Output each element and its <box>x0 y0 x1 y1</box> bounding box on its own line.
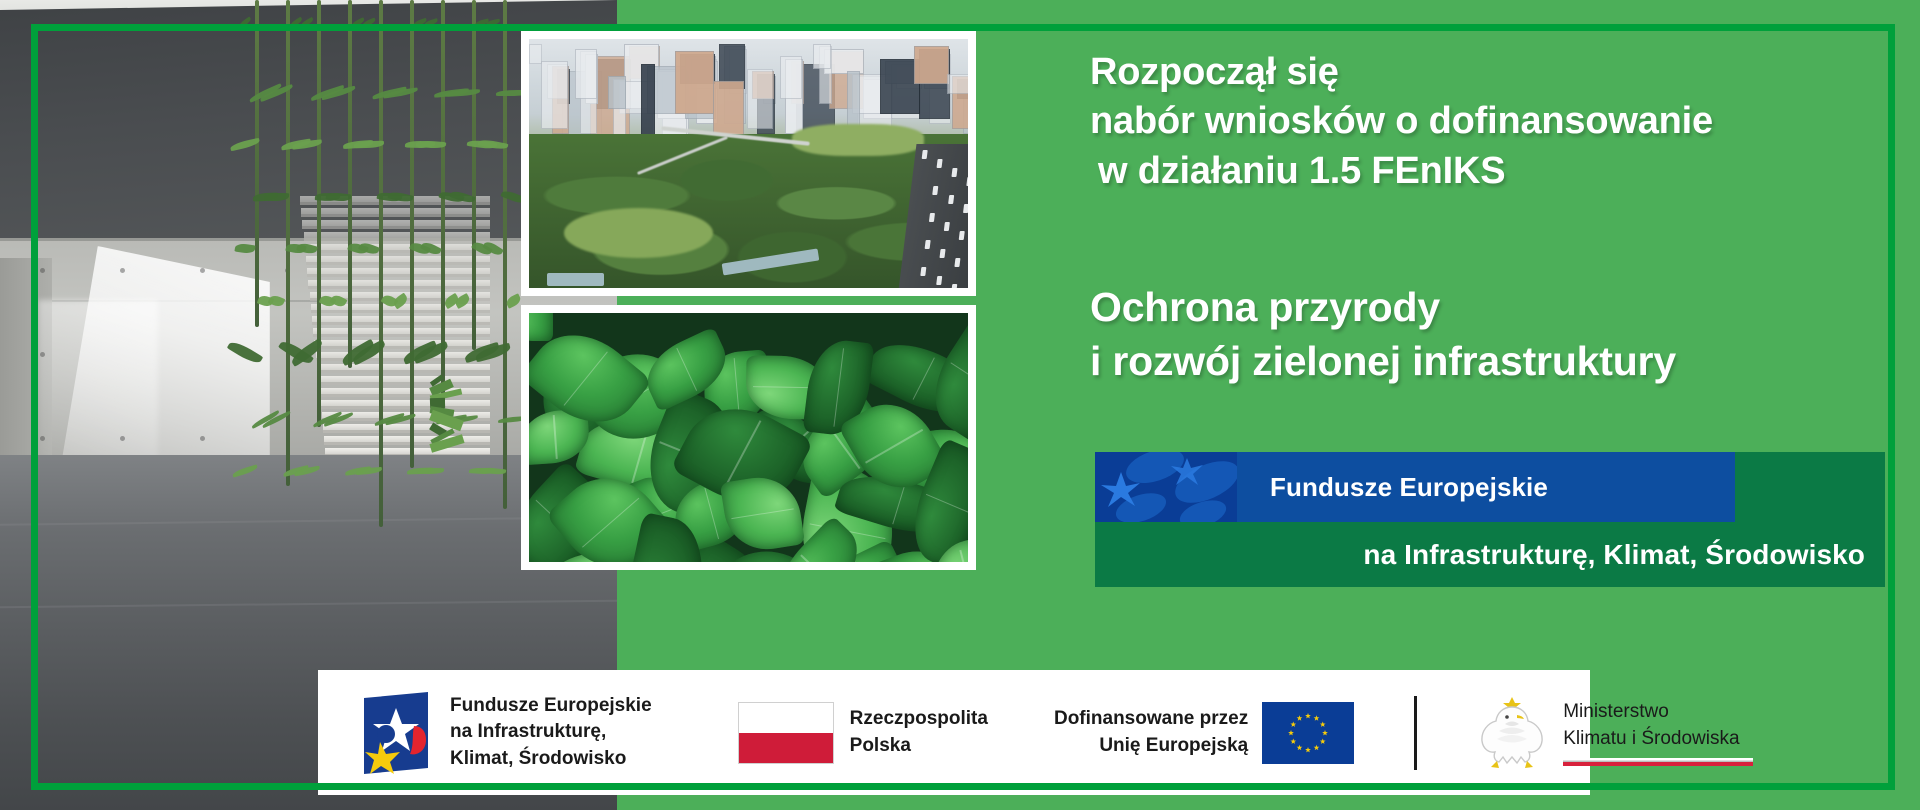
funding-logo-strip: Fundusze Europejskie na Infrastrukturę, … <box>318 670 1590 795</box>
logo-fundusze-europejskie: Fundusze Europejskie na Infrastrukturę, … <box>318 670 652 795</box>
green-leaves-photo <box>521 305 976 570</box>
city-pavilion-roof-2 <box>547 273 604 285</box>
logo-ministerstwo-klimatu: Ministerstwo Klimatu i Środowiska <box>1473 670 1753 795</box>
feniks-program-banner: Fundusze Europejskie na Infrastrukturę, … <box>1095 452 1885 587</box>
city-lawn-upper <box>792 124 924 156</box>
poster-canvas: Rozpoczął się nabór wniosków o dofinanso… <box>0 0 1920 810</box>
poland-logo-text: Rzeczpospolita Polska <box>850 706 988 758</box>
poland-flag-red <box>739 733 833 763</box>
poland-logo-line-1: Rzeczpospolita <box>850 706 988 732</box>
poland-flag-icon <box>738 702 834 764</box>
ministry-logo-line-2: Klimatu i Środowiska <box>1563 726 1753 753</box>
logo-divider <box>1414 696 1417 770</box>
subheadline: Ochrona przyrody i rozwój zielonej infra… <box>1090 280 1920 388</box>
headline-line-3: w działaniu 1.5 FEnIKS <box>1090 147 1920 196</box>
fe-logo-text: Fundusze Europejskie na Infrastrukturę, … <box>450 693 652 772</box>
feniks-bottom-label: na Infrastrukturę, Klimat, Środowisko <box>1095 522 1885 587</box>
ministry-logo-line-1: Ministerstwo <box>1563 699 1753 726</box>
logo-rzeczpospolita-polska: Rzeczpospolita Polska <box>652 670 988 795</box>
logo-european-union: Dofinansowane przez Unię Europejską <box>988 670 1354 795</box>
eu-logo-text: Dofinansowane przez Unię Europejską <box>1054 706 1248 758</box>
ministry-logo-text: Ministerstwo Klimatu i Środowiska <box>1563 699 1753 766</box>
fe-logo-line-2: na Infrastrukturę, <box>450 719 652 745</box>
eu-flag-icon <box>1262 702 1354 764</box>
fe-logo-line-3: Klimat, Środowisko <box>450 746 652 772</box>
subheadline-line-1: Ochrona przyrody <box>1090 280 1920 334</box>
polish-eagle-icon <box>1473 691 1551 775</box>
fe-flag-star-icon <box>356 690 436 776</box>
fe-logo-line-1: Fundusze Europejskie <box>450 693 652 719</box>
eu-logo-line-2: Unię Europejską <box>1054 733 1248 759</box>
feniks-top-label: Fundusze Europejskie <box>1270 452 1548 522</box>
headline-line-1: Rozpoczął się <box>1090 48 1920 97</box>
poland-flag-white <box>739 703 833 733</box>
ministry-flag-rule <box>1563 758 1753 766</box>
headline: Rozpoczął się nabór wniosków o dofinanso… <box>1090 48 1920 196</box>
headline-line-2: nabór wniosków o dofinansowanie <box>1090 97 1920 146</box>
feniks-banner-top: Fundusze Europejskie <box>1095 452 1735 522</box>
aerial-city-park-photo <box>521 31 976 296</box>
feniks-star-pattern-icon <box>1095 452 1237 522</box>
city-lawn <box>564 208 713 258</box>
subheadline-line-2: i rozwój zielonej infrastruktury <box>1090 334 1920 388</box>
poland-logo-line-2: Polska <box>850 733 988 759</box>
eu-logo-line-1: Dofinansowane przez <box>1054 706 1248 732</box>
